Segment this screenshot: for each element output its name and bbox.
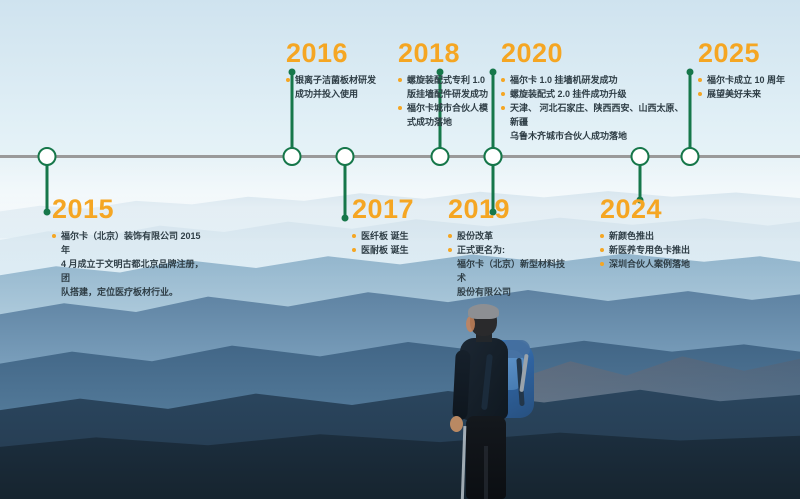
timeline-node-2020[interactable] (484, 147, 503, 166)
timeline-bullet-item: 医耐板 诞生 (352, 243, 448, 257)
bullet-dot-icon (352, 234, 356, 238)
timeline-bullet-item: 新医养专用色卡推出 (600, 243, 720, 257)
timeline-bullet-text: 福尔卡 1.0 挂墙机研发成功 (510, 73, 618, 87)
bullet-dot-icon (448, 234, 452, 238)
timeline-bullet-item: 展望美好未来 (698, 87, 798, 101)
timeline-bullet-item: 银离子洁菌板材研发 成功并投入使用 (286, 73, 390, 101)
hiker-hat (468, 304, 499, 319)
timeline-bullet-item: 福尔卡 1.0 挂墙机研发成功 (501, 73, 691, 87)
timeline-entry-2020: 2020福尔卡 1.0 挂墙机研发成功螺旋装配式 2.0 挂件成功升级天津、 河… (501, 40, 691, 143)
timeline-stem-dot-2025 (687, 69, 694, 76)
timeline-year-label-2015: 2015 (52, 196, 212, 223)
timeline-bullet-item: 深圳合伙人案例落地 (600, 257, 720, 271)
timeline-bullet-text: 福尔卡成立 10 周年 (707, 73, 785, 87)
bullet-dot-icon (286, 78, 290, 82)
timeline-node-2025[interactable] (681, 147, 700, 166)
hiker-hand (450, 416, 463, 432)
timeline-bullets-2020: 福尔卡 1.0 挂墙机研发成功螺旋装配式 2.0 挂件成功升级天津、 河北石家庄… (501, 73, 691, 143)
timeline-node-2016[interactable] (283, 147, 302, 166)
timeline-bullet-item: 天津、 河北石家庄、陕西西安、山西太原、新疆 乌鲁木齐城市合伙人成功落地 (501, 101, 691, 143)
timeline-bullet-text: 新医养专用色卡推出 (609, 243, 690, 257)
bullet-dot-icon (600, 262, 604, 266)
timeline-bullet-item: 正式更名为: 福尔卡（北京）新型材料技术 股份有限公司 (448, 243, 568, 299)
timeline-entry-2017: 2017医纤板 诞生医耐板 诞生 (352, 196, 448, 257)
timeline-node-2015[interactable] (38, 147, 57, 166)
timeline-year-label-2016: 2016 (286, 40, 390, 67)
timeline-bullet-text: 新颜色推出 (609, 229, 654, 243)
timeline-bullet-text: 福尔卡城市合伙人模 式成功落地 (407, 101, 488, 129)
timeline-bullet-item: 新颜色推出 (600, 229, 720, 243)
bullet-dot-icon (600, 248, 604, 252)
bullet-dot-icon (600, 234, 604, 238)
timeline-year-label-2019: 2019 (448, 196, 568, 223)
timeline-node-2018[interactable] (431, 147, 450, 166)
hiker-leg-split (484, 446, 488, 499)
timeline-bullet-item: 医纤板 诞生 (352, 229, 448, 243)
timeline-year-label-2024: 2024 (600, 196, 720, 223)
timeline-infographic: 2015福尔卡（北京）装饰有限公司 2015 年 4 月成立于文明古都北京品牌注… (0, 0, 800, 499)
timeline-entry-2025: 2025福尔卡成立 10 周年展望美好未来 (698, 40, 798, 101)
timeline-bullet-text: 螺旋装配式 2.0 挂件成功升级 (510, 87, 627, 101)
timeline-bullet-text: 医耐板 诞生 (361, 243, 409, 257)
timeline-bullet-text: 福尔卡（北京）装饰有限公司 2015 年 4 月成立于文明古都北京品牌注册，团 … (61, 229, 212, 299)
timeline-bullet-item: 螺旋装配式 2.0 挂件成功升级 (501, 87, 691, 101)
timeline-stem-dot-2015 (44, 209, 51, 216)
bullet-dot-icon (698, 78, 702, 82)
timeline-bullets-2017: 医纤板 诞生医耐板 诞生 (352, 229, 448, 257)
timeline-bullets-2015: 福尔卡（北京）装饰有限公司 2015 年 4 月成立于文明古都北京品牌注册，团 … (52, 229, 212, 299)
bullet-dot-icon (501, 78, 505, 82)
timeline-stem-2025 (689, 72, 692, 155)
bullet-dot-icon (398, 106, 402, 110)
timeline-bullet-text: 天津、 河北石家庄、陕西西安、山西太原、新疆 乌鲁木齐城市合伙人成功落地 (510, 101, 691, 143)
bullet-dot-icon (398, 78, 402, 82)
timeline-bullets-2018: 螺旋装配式专利 1.0 版挂墙配件研发成功福尔卡城市合伙人模 式成功落地 (398, 73, 502, 129)
timeline-year-label-2025: 2025 (698, 40, 798, 67)
timeline-bullet-item: 股份改革 (448, 229, 568, 243)
timeline-stem-dot-2020 (490, 69, 497, 76)
timeline-bullet-item: 福尔卡（北京）装饰有限公司 2015 年 4 月成立于文明古都北京品牌注册，团 … (52, 229, 212, 299)
timeline-bullets-2025: 福尔卡成立 10 周年展望美好未来 (698, 73, 798, 101)
timeline-entry-2024: 2024新颜色推出新医养专用色卡推出深圳合伙人案例落地 (600, 196, 720, 271)
timeline-bullet-text: 医纤板 诞生 (361, 229, 409, 243)
timeline-bullet-text: 展望美好未来 (707, 87, 761, 101)
timeline-bullets-2024: 新颜色推出新医养专用色卡推出深圳合伙人案例落地 (600, 229, 720, 271)
timeline-entry-2016: 2016银离子洁菌板材研发 成功并投入使用 (286, 40, 390, 101)
timeline-year-label-2020: 2020 (501, 40, 691, 67)
bullet-dot-icon (501, 92, 505, 96)
timeline-stem-2020 (492, 72, 495, 155)
hiker-figure (440, 306, 550, 499)
bullet-dot-icon (352, 248, 356, 252)
timeline-bullet-text: 深圳合伙人案例落地 (609, 257, 690, 271)
timeline-bullet-item: 福尔卡成立 10 周年 (698, 73, 798, 87)
timeline-bullet-text: 银离子洁菌板材研发 成功并投入使用 (295, 73, 376, 101)
timeline-bullet-item: 福尔卡城市合伙人模 式成功落地 (398, 101, 502, 129)
timeline-entry-2015: 2015福尔卡（北京）装饰有限公司 2015 年 4 月成立于文明古都北京品牌注… (52, 196, 212, 299)
timeline-bullet-text: 正式更名为: 福尔卡（北京）新型材料技术 股份有限公司 (457, 243, 568, 299)
timeline-bullets-2016: 银离子洁菌板材研发 成功并投入使用 (286, 73, 390, 101)
timeline-bullet-text: 螺旋装配式专利 1.0 版挂墙配件研发成功 (407, 73, 488, 101)
timeline-bullets-2019: 股份改革正式更名为: 福尔卡（北京）新型材料技术 股份有限公司 (448, 229, 568, 299)
timeline-entry-2018: 2018螺旋装配式专利 1.0 版挂墙配件研发成功福尔卡城市合伙人模 式成功落地 (398, 40, 502, 129)
timeline-bullet-item: 螺旋装配式专利 1.0 版挂墙配件研发成功 (398, 73, 502, 101)
timeline-stem-dot-2017 (342, 215, 349, 222)
timeline-node-2017[interactable] (336, 147, 355, 166)
timeline-entry-2019: 2019股份改革正式更名为: 福尔卡（北京）新型材料技术 股份有限公司 (448, 196, 568, 299)
timeline-node-2024[interactable] (631, 147, 650, 166)
timeline-year-label-2018: 2018 (398, 40, 502, 67)
bullet-dot-icon (698, 92, 702, 96)
bullet-dot-icon (52, 234, 56, 238)
bullet-dot-icon (448, 248, 452, 252)
bullet-dot-icon (501, 106, 505, 110)
timeline-bullet-text: 股份改革 (457, 229, 493, 243)
timeline-year-label-2017: 2017 (352, 196, 448, 223)
